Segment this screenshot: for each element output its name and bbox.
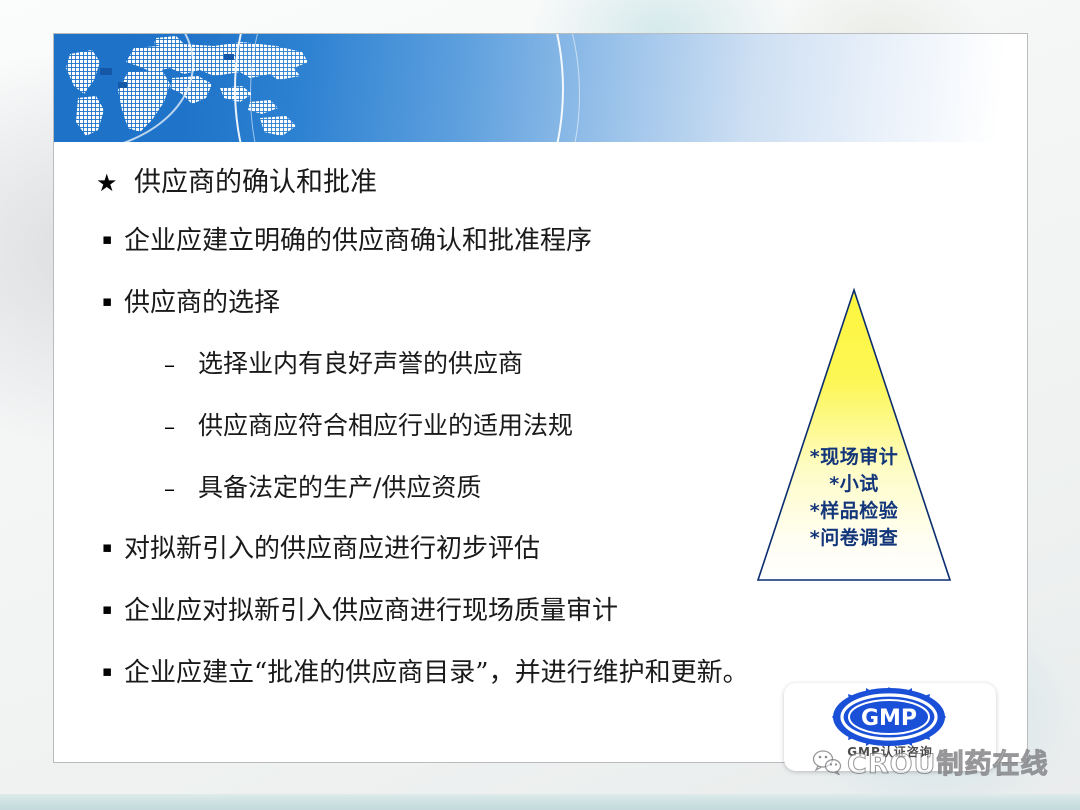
bullet-item-2: ▪ 供应商的选择 — [102, 282, 280, 319]
sub-bullet-item-1-text: 选择业内有良好声誉的供应商 — [198, 344, 523, 380]
bullet-item-2-text: 供应商的选择 — [124, 282, 280, 319]
bullet-item-5-text: 企业应建立“批准的供应商目录”，并进行维护和更新。 — [124, 652, 749, 689]
dash-bullet-icon: – — [164, 415, 198, 440]
dash-bullet-icon: – — [164, 353, 198, 378]
square-bullet-icon: ▪ — [102, 292, 124, 310]
square-bullet-icon: ▪ — [102, 662, 124, 680]
bullet-item-3-text: 对拟新引入的供应商应进行初步评估 — [124, 528, 540, 565]
sub-bullet-item-3: – 具备法定的生产/供应资质 — [164, 468, 481, 504]
slide-header-banner — [54, 34, 1027, 142]
pyramid-label-3: *样品检验 — [754, 498, 954, 525]
sub-bullet-item-3-text: 具备法定的生产/供应资质 — [198, 468, 481, 504]
bullet-item-5: ▪ 企业应建立“批准的供应商目录”，并进行维护和更新。 — [102, 652, 749, 689]
sub-bullet-item-1: – 选择业内有良好声誉的供应商 — [164, 344, 523, 380]
pyramid-label-group: *现场审计 *小试 *样品检验 *问卷调查 — [754, 444, 954, 552]
presentation-slide: ★ 供应商的确认和批准 ▪ 企业应建立明确的供应商确认和批准程序 ▪ 供应商的选… — [53, 33, 1028, 763]
slide-body: ★ 供应商的确认和批准 ▪ 企业应建立明确的供应商确认和批准程序 ▪ 供应商的选… — [54, 142, 1027, 762]
star-bullet-icon: ★ — [96, 169, 134, 197]
bullet-item-4: ▪ 企业应对拟新引入供应商进行现场质量审计 — [102, 590, 618, 627]
gmp-logo-card: GMP GMP认证咨询 — [784, 683, 996, 771]
bullet-item-4-text: 企业应对拟新引入供应商进行现场质量审计 — [124, 590, 618, 627]
square-bullet-icon: ▪ — [102, 230, 124, 248]
banner-arc-decoration-2 — [250, 34, 580, 142]
slide-heading: ★ 供应商的确认和批准 — [96, 160, 377, 199]
bullet-item-1-text: 企业应建立明确的供应商确认和批准程序 — [124, 220, 592, 257]
pyramid-label-4: *问卷调查 — [754, 525, 954, 552]
square-bullet-icon: ▪ — [102, 600, 124, 618]
backdrop-bottom-bar — [0, 794, 1080, 810]
sub-bullet-item-2-text: 供应商应符合相应行业的适用法规 — [198, 406, 573, 442]
pyramid-label-1: *现场审计 — [754, 444, 954, 471]
sub-bullet-item-2: – 供应商应符合相应行业的适用法规 — [164, 406, 573, 442]
pyramid-label-2: *小试 — [754, 471, 954, 498]
bullet-item-3: ▪ 对拟新引入的供应商应进行初步评估 — [102, 528, 540, 565]
dash-bullet-icon: – — [164, 477, 198, 502]
bullet-item-1: ▪ 企业应建立明确的供应商确认和批准程序 — [102, 220, 592, 257]
gmp-logo-subtext: GMP认证咨询 — [792, 743, 988, 760]
pyramid-diagram: *现场审计 *小试 *样品检验 *问卷调查 — [754, 286, 954, 586]
square-bullet-icon: ▪ — [102, 538, 124, 556]
gmp-badge-text: GMP — [861, 706, 917, 731]
gmp-badge-icon: GMP — [828, 686, 950, 748]
slide-heading-text: 供应商的确认和批准 — [134, 160, 377, 199]
